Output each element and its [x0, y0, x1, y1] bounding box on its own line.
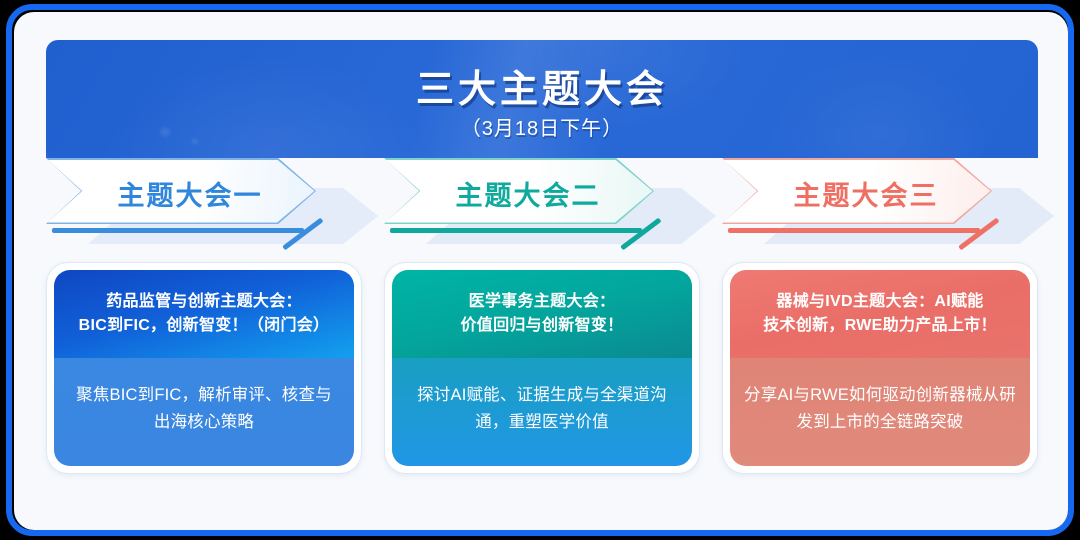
header-banner: 三大主题大会 （3月18日下午）	[46, 40, 1038, 158]
session-column-3: 主题大会三 器械与IVD主题大会：AI赋能 技术创新，RWE助力产品上市！	[722, 158, 1038, 518]
session-card-body-1: 聚焦BIC到FIC，解析审评、核查与出海核心策略	[54, 358, 354, 466]
session-card-shell-2[interactable]: 医学事务主题大会： 价值回归与创新智变！ 探讨AI赋能、证据生成与全渠道沟通，重…	[384, 262, 700, 474]
ribbon-underbar-1	[52, 228, 304, 233]
session-card-title-line2-3: 技术创新，RWE助力产品上市！	[763, 317, 997, 334]
session-card-3[interactable]: 器械与IVD主题大会：AI赋能 技术创新，RWE助力产品上市！ 分享AI与RWE…	[730, 270, 1030, 466]
page-subtitle: （3月18日下午）	[46, 112, 1038, 141]
page-title: 三大主题大会	[46, 58, 1038, 113]
session-card-title-line1-1: 药品监管与创新主题大会：	[106, 293, 302, 310]
session-card-title-2: 医学事务主题大会： 价值回归与创新智变！	[392, 270, 692, 358]
session-columns: 主题大会一 药品监管与创新主题大会： BIC到FIC，创新智变！（闭门会）	[46, 158, 1038, 518]
session-card-shell-1[interactable]: 药品监管与创新主题大会： BIC到FIC，创新智变！（闭门会） 聚焦BIC到FI…	[46, 262, 362, 474]
ribbon-label-1: 主题大会一	[46, 174, 316, 213]
ribbon-label-3: 主题大会三	[722, 174, 992, 213]
session-card-title-3: 器械与IVD主题大会：AI赋能 技术创新，RWE助力产品上市！	[730, 270, 1030, 358]
session-card-title-line2-1: BIC到FIC，创新智变！（闭门会）	[79, 317, 330, 334]
white-content-panel: 三大主题大会 （3月18日下午） 主题大会一	[14, 12, 1068, 530]
session-card-body-2: 探讨AI赋能、证据生成与全渠道沟通，重塑医学价值	[392, 358, 692, 466]
ribbon-banner-1[interactable]: 主题大会一	[46, 158, 316, 224]
session-column-1: 主题大会一 药品监管与创新主题大会： BIC到FIC，创新智变！（闭门会）	[46, 158, 362, 518]
ribbon-wrap-1: 主题大会一	[46, 158, 362, 244]
session-card-shell-3[interactable]: 器械与IVD主题大会：AI赋能 技术创新，RWE助力产品上市！ 分享AI与RWE…	[722, 262, 1038, 474]
session-card-title-line2-2: 价值回归与创新智变！	[460, 317, 623, 334]
ribbon-wrap-2: 主题大会二	[384, 158, 700, 244]
ribbon-underbar-2	[390, 228, 642, 233]
session-column-2: 主题大会二 医学事务主题大会： 价值回归与创新智变！ 探讨AI赋能、	[384, 158, 700, 518]
ribbon-label-2: 主题大会二	[384, 174, 654, 213]
ribbon-banner-2[interactable]: 主题大会二	[384, 158, 654, 224]
session-card-1[interactable]: 药品监管与创新主题大会： BIC到FIC，创新智变！（闭门会） 聚焦BIC到FI…	[54, 270, 354, 466]
ribbon-underbar-3	[728, 228, 980, 233]
ribbon-banner-3[interactable]: 主题大会三	[722, 158, 992, 224]
poster-root: 三大主题大会 （3月18日下午） 主题大会一	[0, 0, 1080, 540]
session-card-2[interactable]: 医学事务主题大会： 价值回归与创新智变！ 探讨AI赋能、证据生成与全渠道沟通，重…	[392, 270, 692, 466]
session-card-title-line1-2: 医学事务主题大会：	[469, 293, 616, 310]
ribbon-wrap-3: 主题大会三	[722, 158, 1038, 244]
session-card-body-3: 分享AI与RWE如何驱动创新器械从研发到上市的全链路突破	[730, 358, 1030, 466]
session-card-title-line1-3: 器械与IVD主题大会：AI赋能	[776, 293, 983, 310]
session-card-title-1: 药品监管与创新主题大会： BIC到FIC，创新智变！（闭门会）	[54, 270, 354, 358]
